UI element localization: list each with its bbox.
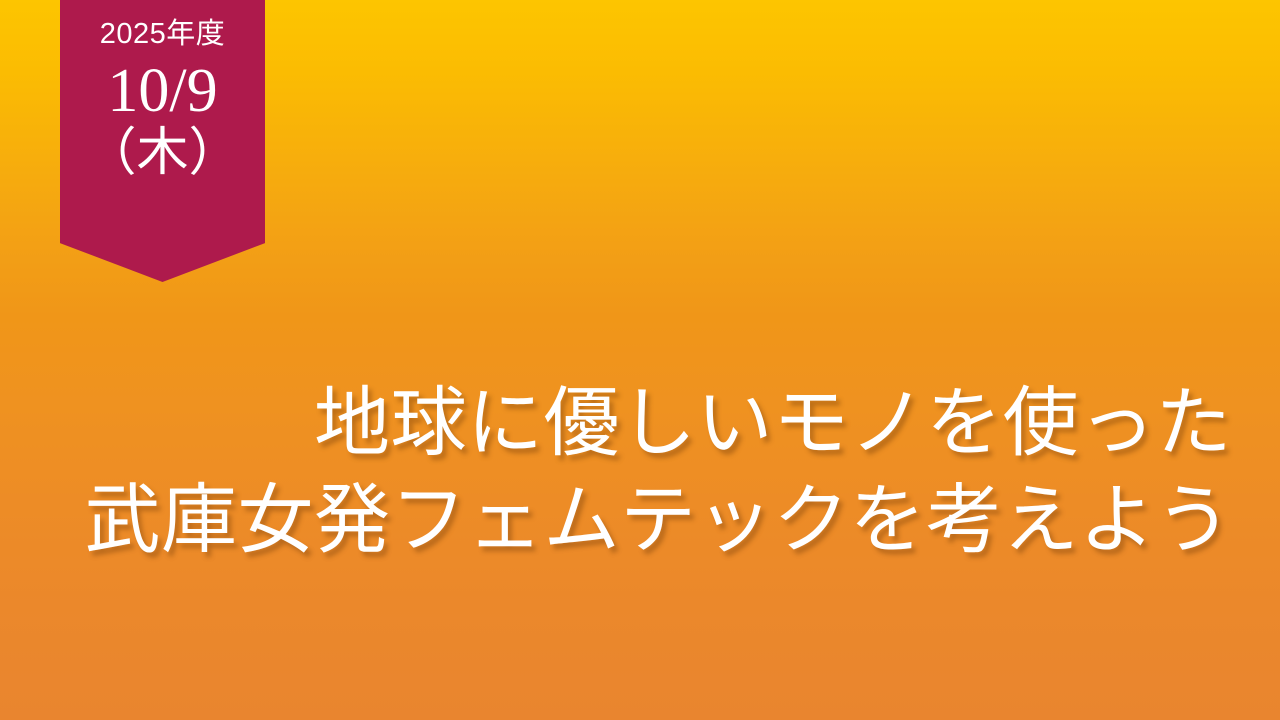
ribbon-weekday-value: （木） (60, 127, 265, 182)
ribbon-date-value: 10/9 (60, 60, 265, 123)
title-line-1: 地球に優しいモノを使った (0, 376, 1232, 473)
event-title-slide: 2025年度 10/9 （木） 地球に優しいモノを使った 武庫女発フェムテックを… (0, 0, 1280, 720)
date-ribbon: 2025年度 10/9 （木） (60, 0, 265, 282)
title-line-2: 武庫女発フェムテックを考えよう (0, 473, 1232, 570)
page-title: 地球に優しいモノを使った 武庫女発フェムテックを考えよう (0, 376, 1232, 569)
ribbon-year-label: 2025年度 (60, 16, 265, 52)
